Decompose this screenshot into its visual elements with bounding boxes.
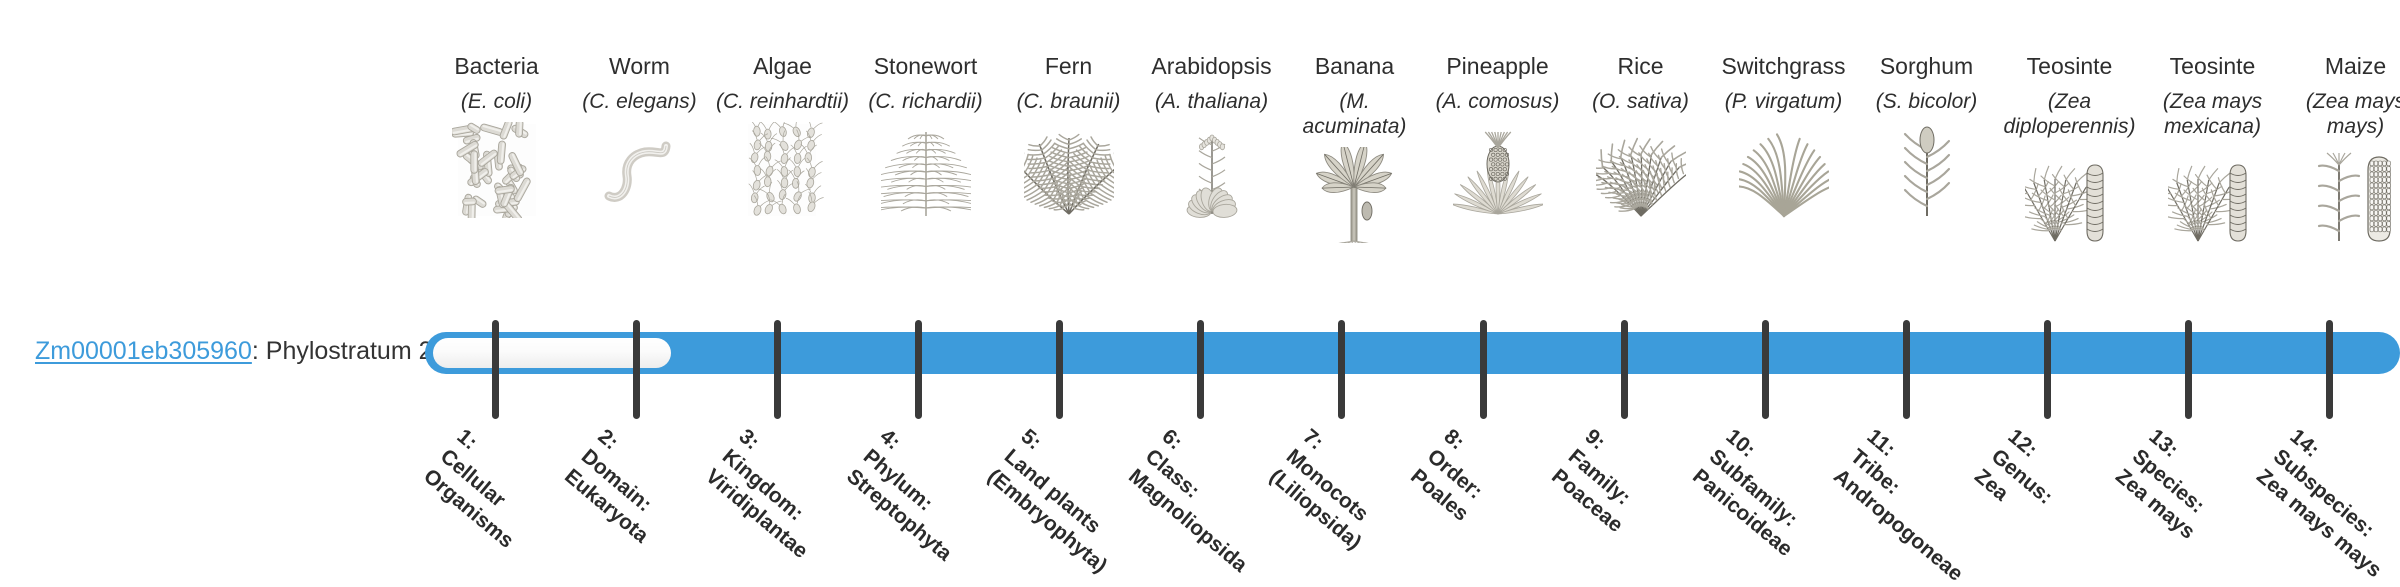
phylostratum-label-9: 9:Family:Poaceae bbox=[1546, 424, 1661, 539]
species-scientific-name: (A. comosus) bbox=[1436, 89, 1560, 114]
teosinte-plant-ear-icon bbox=[2004, 147, 2136, 243]
bacteria-rods-icon bbox=[431, 122, 563, 218]
species-column-sorghum: Sorghum(S. bicolor) bbox=[1855, 52, 1998, 218]
gene-phylostratum-label: Zm00001eb305960: Phylostratum 2 bbox=[35, 336, 433, 366]
species-column-stonewort: Stonewort(C. richardii) bbox=[854, 52, 997, 218]
species-column-algae: Algae(C. reinhardtii) bbox=[711, 52, 854, 218]
species-common-name: Algae bbox=[753, 52, 812, 80]
species-common-name: Pineapple bbox=[1446, 52, 1548, 80]
species-common-name: Banana bbox=[1315, 52, 1394, 80]
species-scientific-name: (O. sativa) bbox=[1592, 89, 1689, 114]
species-common-name: Worm bbox=[609, 52, 670, 80]
species-scientific-name: (C. elegans) bbox=[582, 89, 696, 114]
phylostratum-bar-unfilled-region bbox=[433, 338, 671, 368]
species-column-arabidopsis: Arabidopsis(A. thaliana) bbox=[1140, 52, 1283, 218]
species-scientific-name: (S. bicolor) bbox=[1876, 89, 1978, 114]
switchgrass-clump-icon bbox=[1718, 122, 1850, 218]
phylostratum-figure: Zm00001eb305960: Phylostratum 2 Bacteria… bbox=[0, 0, 2400, 580]
species-column-bacteria: Bacteria(E. coli) bbox=[425, 52, 568, 218]
species-scientific-name: (P. virgatum) bbox=[1725, 89, 1842, 114]
species-column-switchgrass: Switchgrass(P. virgatum) bbox=[1712, 52, 1855, 218]
species-common-name: Fern bbox=[1045, 52, 1092, 80]
species-scientific-name: (C. reinhardtii) bbox=[716, 89, 849, 114]
species-column-maize: Maize(Zea mays mays) bbox=[2284, 52, 2400, 243]
species-common-name: Maize bbox=[2325, 52, 2386, 80]
species-scientific-name: (Zea mays mays) bbox=[2287, 89, 2400, 139]
phylostratum-label-11: 11:Tribe:Andropogoneae bbox=[1828, 424, 2001, 587]
species-common-name: Teosinte bbox=[2027, 52, 2113, 80]
species-common-name: Bacteria bbox=[454, 52, 538, 80]
phylostratum-label-4: 4:Phylum:Streptophyta bbox=[841, 424, 990, 567]
phylostratum-label-14: 14:Subspecies:Zea mays mays bbox=[2251, 424, 2400, 584]
species-scientific-name: (A. thaliana) bbox=[1155, 89, 1268, 114]
phylostratum-label-13: 13:Species:Zea mays bbox=[2110, 424, 2233, 545]
species-column-teosinte: Teosinte(Zea mays mexicana) bbox=[2141, 52, 2284, 243]
species-common-name: Arabidopsis bbox=[1151, 52, 1271, 80]
sorghum-plant-icon bbox=[1861, 122, 1993, 218]
maize-plant-ear-icon bbox=[2290, 147, 2400, 243]
species-scientific-name: (C. braunii) bbox=[1017, 89, 1121, 114]
nematode-worm-icon bbox=[574, 122, 706, 218]
gene-id-link[interactable]: Zm00001eb305960 bbox=[35, 337, 252, 365]
species-common-name: Switchgrass bbox=[1722, 52, 1846, 80]
species-scientific-name: (E. coli) bbox=[461, 89, 532, 114]
phylostratum-label-2: 2:Domain:Eukaryota bbox=[558, 424, 686, 549]
species-column-worm: Worm(C. elegans) bbox=[568, 52, 711, 218]
phylostratum-label-7: 7:Monocots(Liliopsida) bbox=[1264, 424, 1400, 556]
rice-plant-icon bbox=[1575, 122, 1707, 218]
species-scientific-name: (Zea mays mexicana) bbox=[2144, 89, 2282, 139]
gene-label-separator: : bbox=[252, 337, 266, 365]
species-column-fern: Fern(C. braunii) bbox=[997, 52, 1140, 218]
phylostratum-label-8: 8:Order:Poales bbox=[1405, 424, 1507, 527]
species-column-teosinte: Teosinte(Zea diploperennis) bbox=[1998, 52, 2141, 243]
species-common-name: Stonewort bbox=[874, 52, 978, 80]
phylostratum-label-group: 1:CellularOrganisms2:Domain:Eukaryota3:K… bbox=[425, 424, 2400, 580]
arabidopsis-rosette-icon bbox=[1146, 122, 1278, 218]
species-scientific-name: (C. richardii) bbox=[868, 89, 982, 114]
stonewort-alga-icon bbox=[860, 122, 992, 218]
green-algae-cells-icon bbox=[717, 122, 849, 218]
teosinte-plant-ear-icon bbox=[2147, 147, 2279, 243]
species-common-name: Sorghum bbox=[1880, 52, 1973, 80]
phylostratum-bar[interactable] bbox=[425, 332, 2400, 374]
phylostratum-label-1: 1:CellularOrganisms bbox=[417, 424, 551, 554]
species-column-banana: Banana(M. acuminata) bbox=[1283, 52, 1426, 243]
phylostratum-bar-track bbox=[425, 332, 2400, 374]
species-common-name: Teosinte bbox=[2170, 52, 2256, 80]
fern-frond-icon bbox=[1003, 122, 1135, 218]
species-common-name: Rice bbox=[1617, 52, 1663, 80]
species-scientific-name: (Zea diploperennis) bbox=[2001, 89, 2139, 139]
species-column-pineapple: Pineapple(A. comosus) bbox=[1426, 52, 1569, 218]
gene-phylostratum-value: Phylostratum 2 bbox=[266, 337, 433, 365]
banana-plant-icon bbox=[1289, 147, 1421, 243]
pineapple-plant-icon bbox=[1432, 122, 1564, 218]
species-scientific-name: (M. acuminata) bbox=[1286, 89, 1424, 139]
phylostratum-label-6: 6:Class:Magnoliopsida bbox=[1123, 424, 1286, 578]
phylostratum-label-10: 10:Subfamily:Panicoideae bbox=[1687, 424, 1831, 563]
phylostratum-label-3: 3:Kingdom:Viridiplantae bbox=[700, 424, 846, 565]
species-column-rice: Rice(O. sativa) bbox=[1569, 52, 1712, 218]
species-header-row: Bacteria(E. coli)Worm(C. elegans)Algae(C… bbox=[425, 52, 2400, 302]
phylostratum-label-5: 5:Land plants(Embryophyta) bbox=[982, 424, 1146, 579]
